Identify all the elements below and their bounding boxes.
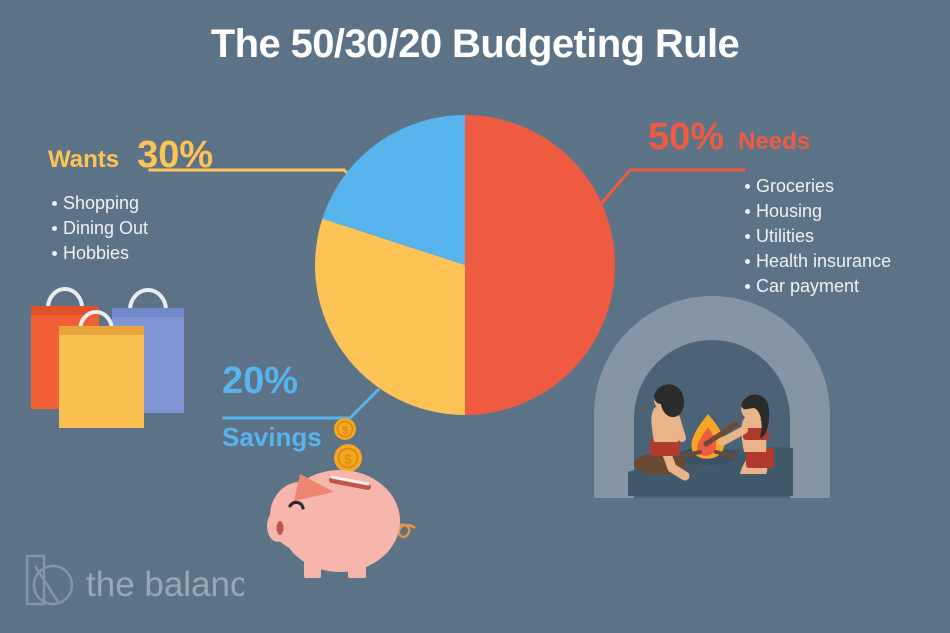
needs-header: 50% Needs (648, 118, 891, 156)
piggy-nostril (277, 521, 284, 535)
falling-coin-small: $ (334, 418, 356, 440)
wants-percent: 30% (137, 136, 213, 174)
needs-percent: 50% (648, 118, 724, 156)
wants-label: Wants (48, 148, 119, 172)
svg-text:$: $ (342, 425, 348, 437)
list-item: Dining Out (52, 216, 213, 241)
needs-callout: 50% Needs Groceries Housing Utilities He… (648, 118, 891, 299)
shopping-bags-illustration (26, 268, 211, 438)
b-monogram-icon (27, 556, 72, 604)
falling-coin-large: $ (334, 444, 362, 472)
needs-item-list: Groceries Housing Utilities Health insur… (745, 174, 891, 299)
wants-callout: Wants 30% Shopping Dining Out Hobbies (48, 136, 213, 266)
list-item: Health insurance (745, 249, 891, 274)
list-item: Groceries (745, 174, 891, 199)
list-item: Utilities (745, 224, 891, 249)
savings-percent: 20% (222, 360, 298, 402)
bag-handle-left (48, 289, 82, 308)
needs-label: Needs (738, 130, 810, 154)
the-balance-logo[interactable]: the balance (24, 552, 244, 615)
page-title: The 50/30/20 Budgeting Rule (0, 20, 950, 68)
list-item: Hobbies (52, 241, 213, 266)
bag-handle-right (130, 290, 166, 310)
list-item: Housing (745, 199, 891, 224)
shopping-bag-yellow (59, 326, 144, 428)
logo-wordmark: the balance (86, 565, 244, 604)
bag-yellow-top (59, 326, 144, 335)
cave-dwellers-campfire-illustration (588, 296, 918, 506)
svg-text:$: $ (344, 451, 352, 467)
piggy-bank-illustration: $ $ (248, 408, 448, 593)
wants-item-list: Shopping Dining Out Hobbies (52, 191, 213, 266)
list-item: Shopping (52, 191, 213, 216)
wants-header: Wants 30% (48, 136, 213, 174)
bag-blue-top (112, 308, 184, 317)
infographic-canvas: The 50/30/20 Budgeting Rule Wants 30% Sh… (0, 0, 950, 633)
pie-chart (310, 110, 620, 420)
